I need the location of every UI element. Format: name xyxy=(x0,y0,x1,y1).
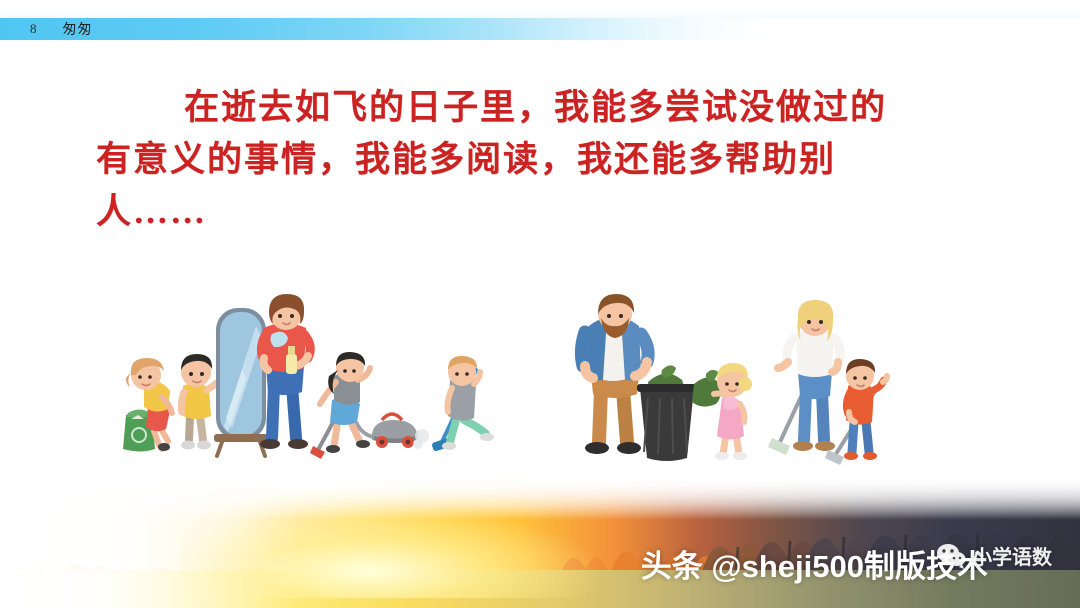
verse-text-block: 在逝去如飞的日子里，我能多尝试没做过的 有意义的事情，我能多阅读，我还能多帮助别… xyxy=(96,82,1006,238)
figure-girl-picking-litter xyxy=(118,357,180,455)
lesson-title: 匆匆 xyxy=(63,19,93,39)
figure-trash-bin xyxy=(636,354,698,464)
illustration-area xyxy=(0,272,1080,472)
verse-line-1: 在逝去如飞的日子里，我能多尝试没做过的 xyxy=(96,82,1006,134)
slide-root: 8 匆匆 在逝去如飞的日子里，我能多尝试没做过的 有意义的事情，我能多阅读，我还… xyxy=(0,0,1080,608)
top-glow-strip xyxy=(0,0,1080,18)
wechat-watermark: 小学语数 xyxy=(936,541,1052,570)
verse-line-3: 人…… xyxy=(96,186,1006,238)
figure-mother-cleaning xyxy=(252,294,320,460)
figure-boy-mopping xyxy=(424,358,494,458)
header-content: 8 匆匆 xyxy=(0,18,520,40)
figure-boy-orange-mopping xyxy=(828,358,894,462)
figure-girl-with-bag xyxy=(692,354,750,462)
verse-line-2: 有意义的事情，我能多阅读，我还能多帮助别 xyxy=(96,134,1006,186)
figure-vacuum-cleaner xyxy=(364,406,424,450)
page-number: 8 xyxy=(30,21,37,37)
scenery-top-fade xyxy=(0,473,1080,519)
wechat-icon xyxy=(936,543,966,569)
wechat-account-name: 小学语数 xyxy=(972,541,1052,570)
bottom-scenery-band: 头条 @sheji500制版技术 小学语数 xyxy=(0,473,1080,608)
